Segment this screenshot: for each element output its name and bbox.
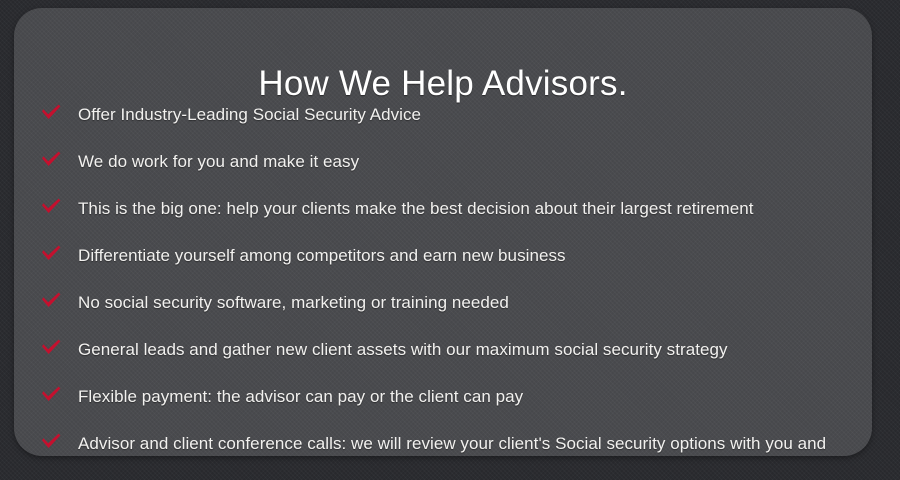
list-item-label: General leads and gather new client asse… xyxy=(78,336,848,364)
check-icon xyxy=(40,196,62,216)
list-item: Flexible payment: the advisor can pay or… xyxy=(14,383,872,411)
check-icon xyxy=(40,102,62,122)
check-icon xyxy=(40,431,62,451)
list-item-label: We do work for you and make it easy xyxy=(78,148,848,176)
check-icon xyxy=(40,149,62,169)
list-item: No social security software, marketing o… xyxy=(14,289,872,317)
list-item-label: Differentiate yourself among competitors… xyxy=(78,242,848,270)
list-item-label: No social security software, marketing o… xyxy=(78,289,848,317)
list-item: This is the big one: help your clients m… xyxy=(14,195,872,223)
check-icon xyxy=(40,243,62,263)
check-icon xyxy=(40,337,62,357)
help-advisors-card: How We Help Advisors. Offer Industry-Lea… xyxy=(14,8,872,456)
check-icon xyxy=(40,384,62,404)
list-item: We do work for you and make it easy xyxy=(14,148,872,176)
page-root: How We Help Advisors. Offer Industry-Lea… xyxy=(0,0,900,480)
benefits-checklist: Offer Industry-Leading Social Security A… xyxy=(14,101,872,456)
list-item: Offer Industry-Leading Social Security A… xyxy=(14,101,872,129)
list-item: Differentiate yourself among competitors… xyxy=(14,242,872,270)
check-icon xyxy=(40,290,62,310)
list-item-label: Flexible payment: the advisor can pay or… xyxy=(78,383,848,411)
list-item-label: This is the big one: help your clients m… xyxy=(78,195,848,223)
list-item: Advisor and client conference calls: we … xyxy=(14,430,872,456)
list-item-label: Advisor and client conference calls: we … xyxy=(78,430,848,456)
list-item: General leads and gather new client asse… xyxy=(14,336,872,364)
page-title: How We Help Advisors. xyxy=(14,63,872,105)
list-item-label: Offer Industry-Leading Social Security A… xyxy=(78,101,848,129)
